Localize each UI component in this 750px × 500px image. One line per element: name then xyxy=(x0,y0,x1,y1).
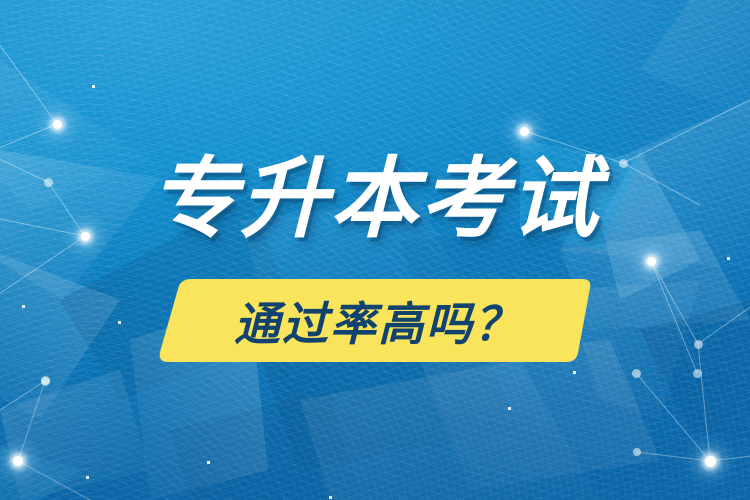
headline-title: 专升本考试 xyxy=(0,155,750,243)
subtitle-text: 通过率高吗？ xyxy=(158,279,592,362)
promo-banner: 专升本考试 通过率高吗？ xyxy=(0,0,750,500)
banner-content: 专升本考试 通过率高吗？ xyxy=(0,0,750,500)
